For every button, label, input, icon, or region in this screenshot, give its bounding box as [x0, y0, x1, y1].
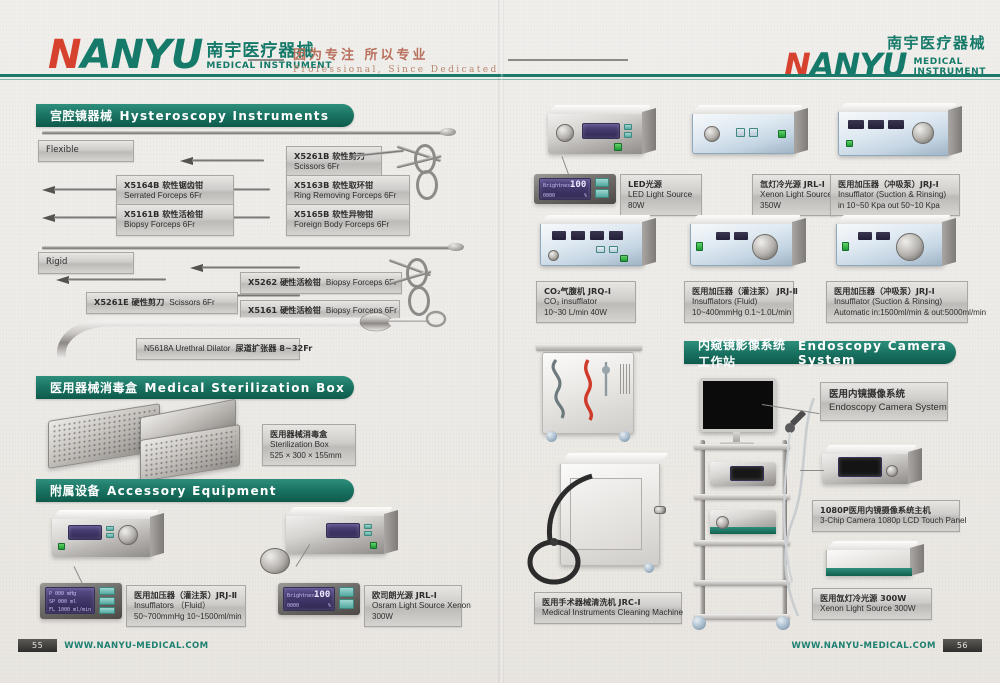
device-insufflator-fluid-btn-1[interactable] — [106, 526, 114, 531]
device-xenon-top — [692, 105, 803, 114]
device-insufflator-fluid-side — [150, 513, 164, 557]
camera-system-cn: 医用内镜摄像系统 — [829, 389, 939, 402]
section-banner-sterilization-cn: 医用器械消毒盒 — [50, 379, 138, 396]
right-top-plate-0: LED光源 LED Light Source 80W — [620, 174, 702, 216]
instrument-jaw-scissors — [180, 157, 193, 165]
camera-host-plate: 1080P医用内镜摄像系统主机 3-Chip Camera 1080p LCD … — [812, 500, 960, 532]
xenon-300w-en: Xenon Light Source 300W — [820, 604, 924, 615]
camera-host-connector[interactable] — [886, 465, 898, 477]
camera-host-cn: 1080P医用内镜摄像系统主机 — [820, 505, 952, 516]
closeup-osram-mode-label: 0000 — [287, 603, 299, 609]
device-insufflator-fluid-power[interactable] — [58, 543, 65, 550]
right-mid-en-0: CO₂ insufflator — [544, 297, 628, 308]
xenon-300w-side — [910, 544, 924, 576]
closeup-osram-up-button[interactable] — [339, 587, 354, 597]
flexible-hysteroscope-tip — [440, 128, 456, 136]
device-xenon-light-source — [692, 112, 796, 154]
device-xenon-power[interactable] — [778, 130, 786, 138]
page-number-right: 56 — [943, 639, 982, 652]
device-insufflator-fluid-right — [690, 222, 794, 266]
xenon-300w-accent-bar — [826, 568, 912, 576]
section-banner-hysteroscopy: 宫腔镜器械 Hysteroscopy Instruments — [36, 104, 354, 127]
device-osram-lcd — [326, 523, 360, 538]
instrument-shaft-biopsy-rigid-1 — [202, 266, 300, 269]
instrument-plate-biopsy-flex: X5161B 软性活检钳 Biopsy Forceps 6Fr — [116, 204, 234, 236]
device-fluid-right-roller-pump[interactable] — [752, 234, 778, 260]
section-banner-endoscopy-en: Endoscopy Camera System — [798, 339, 956, 367]
light-guide-adapter — [260, 548, 290, 574]
footer-url-left[interactable]: WWW.NANYU-MEDICAL.COM — [64, 641, 208, 651]
device-suction-top-roller[interactable] — [912, 122, 934, 144]
device-suction-auto-side — [942, 218, 956, 266]
device-suction-auto-top — [836, 215, 951, 224]
device-insufflator-suction-auto — [836, 222, 944, 266]
instrument-plate-foreign-body: X5165B 软性异物钳 Foreign Body Forceps 6Fr — [286, 204, 410, 236]
accessory-plate-insufflator: 医用加压器（灌注泵）JRJ-Ⅱ Insufflators （Fluid） 50~… — [126, 585, 246, 627]
camera-host-side — [908, 448, 922, 484]
brand-wordmark-rest: ANYU — [80, 32, 202, 78]
closeup-insufflator-line-1: P 000 mHg — [49, 591, 76, 597]
device-osram-btn-1[interactable] — [364, 524, 372, 529]
cleaning-machine-plate: 医用手术器械清洗机 JRC-Ⅰ Medical Instruments Clea… — [534, 592, 682, 624]
device-osram-power[interactable] — [370, 542, 377, 549]
device-co2-btn-1[interactable] — [596, 246, 605, 253]
device-led-side — [642, 108, 656, 154]
right-top-en-2: Insufflator (Suction & Rinsing) — [838, 190, 952, 201]
right-top-spec-1: 350W — [760, 201, 828, 212]
closeup-led-mode-label: 0000 — [543, 193, 555, 199]
closeup-insufflator-panel: P 000 mHg SP 000 ml FL 1000 ml/min — [40, 583, 122, 619]
instrument-plate-biopsy-rigid-1: X5262 硬性活检钳 Biopsy Forceps 6Fr — [240, 272, 402, 294]
section-banner-hysteroscopy-cn: 宫腔镜器械 — [50, 107, 113, 124]
accessory-plate-osram: 欧司朗光源 JRL-Ⅰ Osram Light Source Xenon 300… — [364, 585, 462, 627]
closeup-osram-unit: % — [328, 603, 331, 609]
right-top-spec-0: 80W — [628, 201, 694, 212]
device-suction-auto-power[interactable] — [842, 242, 849, 251]
tagline-text-block: 因为专注 所以专业 Professional, Since Dedicated — [293, 44, 499, 75]
section-banner-accessory-en: Accessory Equipment — [107, 484, 277, 498]
device-led-knob[interactable] — [556, 124, 574, 142]
right-top-cn-1: 氙灯冷光源 JRL-Ⅰ — [760, 179, 828, 190]
footer-url-right[interactable]: WWW.NANYU-MEDICAL.COM — [791, 641, 935, 651]
tagline-cn: 因为专注 所以专业 — [293, 44, 499, 63]
device-suction-top-power[interactable] — [846, 140, 853, 147]
right-mid-plate-1: 医用加压器（灌注泵） JRJ-Ⅱ Insufflators (Fluid) 10… — [684, 281, 794, 323]
brand-initial: N — [48, 32, 80, 78]
section-banner-endoscopy: 内窥镜影像系统工作站 Endoscopy Camera System — [684, 341, 956, 364]
cleaning-upper-caster-left — [546, 431, 557, 442]
right-mid-cn-0: CO₂气腹机 JRQ-Ⅰ — [544, 286, 628, 297]
closeup-insufflator-btn-2[interactable] — [99, 597, 115, 605]
device-xenon-side — [794, 108, 808, 154]
closeup-insufflator-line-3: FL 1000 ml/min — [49, 607, 91, 613]
instrument-en-3: Biopsy Forceps 6Fr — [124, 220, 226, 231]
page-spine — [498, 0, 504, 683]
page-number-left: 55 — [18, 639, 57, 652]
device-suction-top-seg-2 — [868, 120, 884, 129]
right-top-en-0: LED Light Source — [628, 190, 694, 201]
device-co2-gas-port[interactable] — [548, 250, 559, 261]
device-fluid-right-power[interactable] — [696, 242, 703, 251]
device-insufflator-fluid-right-side — [792, 218, 806, 266]
tower-monitor-stand-neck — [733, 432, 740, 442]
cleaning-upper-caster-right — [619, 431, 630, 442]
group-label-rigid: Rigid — [38, 252, 134, 274]
device-fluid-right-seg-2 — [734, 232, 748, 240]
device-xenon-btn-1[interactable] — [736, 128, 745, 137]
instrument-code-4: X5165B 软性异物钳 — [294, 209, 402, 220]
section-banner-sterilization: 医用器械消毒盒 Medical Sterilization Box — [36, 376, 354, 399]
device-suction-auto-roller-pump[interactable] — [896, 233, 924, 261]
device-co2-side — [642, 218, 656, 266]
closeup-osram-down-button[interactable] — [339, 599, 354, 609]
device-led-light-source — [548, 112, 644, 154]
cleaning-machine-cn: 医用手术器械清洗机 JRC-Ⅰ — [542, 597, 674, 608]
device-osram-btn-2[interactable] — [364, 531, 372, 536]
closeup-insufflator-btn-3[interactable] — [99, 607, 115, 614]
closeup-led-brightness-value: 100 — [570, 180, 586, 190]
device-insufflator-suction-top — [838, 110, 950, 156]
instrument-code-5: X5262 硬性活检钳 — [248, 277, 321, 288]
device-insufflator-fluid-knob[interactable] — [118, 525, 138, 545]
closeup-insufflator-line-2: SP 000 ml — [49, 599, 76, 605]
device-suction-auto-seg-2 — [876, 232, 890, 240]
device-co2-power[interactable] — [620, 255, 628, 262]
device-osram-light-source — [286, 514, 386, 554]
xenon-300w-cn: 医用氙灯冷光源 300W — [820, 593, 924, 604]
instrument-en-2: Ring Removing Forceps 6Fr — [294, 191, 402, 202]
cleaning-lower-hose — [524, 470, 634, 590]
device-led-btn-2[interactable] — [624, 132, 632, 138]
right-top-spec-2: in 10~50 Kpa out 50~10 Kpa — [838, 201, 952, 212]
closeup-led-unit: % — [584, 193, 587, 199]
device-co2-seg-3 — [590, 231, 604, 240]
right-top-en-1: Xenon Light Source — [760, 190, 828, 201]
camera-system-en: Endoscopy Camera System — [829, 402, 939, 415]
instrument-code-2: X5163B 软性取环钳 — [294, 180, 402, 191]
right-mid-spec-1: 10~400mmHg 0.1~1.0L/min — [692, 308, 786, 319]
tagline-rule-right — [508, 59, 628, 61]
rigid-hysteroscope-rod — [42, 246, 454, 250]
closeup-osram-brightness-value: 100 — [314, 590, 330, 600]
brand-wordmark-left: NANYU — [48, 37, 202, 73]
catalog-page: NANYU 南宇医疗器械 MEDICAL INSTRUMENT 因为专注 所以专… — [0, 0, 1000, 683]
closeup-led-panel: Brightness 100 0000 % — [534, 174, 616, 204]
device-insufflator-fluid-right-top — [690, 215, 801, 224]
device-osram-side — [384, 510, 398, 554]
instrument-jaw-biopsy-rigid-1 — [190, 264, 203, 272]
device-co2-btn-2[interactable] — [609, 246, 618, 253]
cleaning-upper-hoses — [544, 356, 636, 428]
device-xenon-300w — [826, 548, 912, 576]
device-suction-top-seg-1 — [848, 120, 864, 129]
device-led-lcd — [582, 123, 620, 139]
instrument-en-4: Foreign Body Forceps 6Fr — [294, 220, 402, 231]
tower-caster-left — [692, 616, 706, 630]
device-insufflator-suction-top-side — [948, 106, 962, 156]
closeup-osram-brightness-label: Brightness — [287, 593, 317, 599]
group-label-flexible: Flexible — [38, 140, 134, 162]
flexible-hysteroscope-rod — [42, 131, 446, 135]
cleaning-lower-caster — [644, 563, 654, 573]
tagline-rule-left — [248, 59, 284, 61]
instrument-plate-ring-removing: X5163B 软性取环钳 Ring Removing Forceps 6Fr — [286, 175, 410, 207]
closeup-insufflator-btn-1[interactable] — [99, 587, 115, 595]
device-suction-auto-body — [836, 222, 944, 266]
right-mid-en-2: Insufflator (Suction & Rinsing) — [834, 297, 960, 308]
right-top-cn-2: 医用加压器（冲吸泵）JRJ-Ⅰ — [838, 179, 952, 190]
device-co2-seg-1 — [552, 231, 566, 240]
device-camera-host-1080p — [822, 452, 910, 484]
device-suction-auto-seg-1 — [858, 232, 872, 240]
footer-right: WWW.NANYU-MEDICAL.COM 56 — [791, 639, 982, 652]
right-mid-en-1: Insufflators (Fluid) — [692, 297, 786, 308]
device-insufflator-fluid-btn-2[interactable] — [106, 533, 114, 538]
instrument-en-5: Biopsy Forceps 6Fr — [326, 278, 397, 289]
xenon-300w-top — [826, 541, 919, 550]
accessory-spec-1: 300W — [372, 612, 454, 623]
urethral-dilator-en: N5618A Urethral Dilator — [144, 344, 230, 355]
tower-light-source-unit — [710, 510, 776, 534]
header-tagline: 因为专注 所以专业 Professional, Since Dedicated — [248, 44, 628, 75]
camera-host-touch-panel[interactable] — [838, 457, 882, 477]
rigid-hysteroscope-tip — [448, 243, 464, 251]
right-mid-spec-2: Automatic in:1500ml/min & out:5000ml/min — [834, 308, 960, 319]
device-insufflator-fluid-right-body — [690, 222, 794, 266]
device-xenon-port[interactable] — [704, 126, 720, 142]
section-banner-endoscopy-cn: 内窥镜影像系统工作站 — [698, 336, 791, 370]
instrument-jaw-serrated — [42, 186, 55, 194]
instrument-code-1: X5164B 软性锯齿钳 — [124, 180, 226, 191]
instrument-jaw-biopsy-flex — [42, 214, 55, 222]
instrument-code-3: X5161B 软性活检钳 — [124, 209, 226, 220]
device-xenon-btn-2[interactable] — [749, 128, 758, 137]
device-led-btn-1[interactable] — [624, 124, 632, 130]
instrument-shaft-scissors — [192, 159, 264, 162]
device-insufflator-fluid-lcd — [68, 525, 102, 540]
xenon-300w-plate: 医用氙灯冷光源 300W Xenon Light Source 300W — [812, 588, 932, 620]
right-mid-plate-2: 医用加压器（冲吸泵）JRJ-Ⅰ Insufflator (Suction & R… — [826, 281, 968, 323]
camera-system-plate: 医用内镜摄像系统 Endoscopy Camera System — [820, 382, 948, 421]
group-label-rigid-text: Rigid — [46, 257, 126, 268]
camera-host-en: 3-Chip Camera 1080p LCD Touch Panel — [820, 516, 952, 527]
rigid-ring-handle-upper — [406, 258, 428, 288]
instrument-shaft-scissors-rigid — [68, 278, 166, 281]
accessory-cn-0: 医用加压器（灌注泵）JRJ-Ⅱ — [134, 590, 238, 601]
right-top-plate-1: 氙灯冷光源 JRL-Ⅰ Xenon Light Source 350W — [752, 174, 836, 216]
device-fluid-right-seg-1 — [716, 232, 730, 240]
sterilization-box-cn: 医用器械消毒盒 — [270, 429, 348, 440]
device-co2-seg-4 — [609, 231, 623, 240]
sterilization-box-plate: 医用器械消毒盒 Sterilization Box 525 × 300 × 15… — [262, 424, 356, 466]
forceps-ring-handle-lower — [416, 170, 438, 200]
device-insufflator-fluid — [52, 517, 152, 557]
instrument-plate-scissors-flex: X5261B 软性剪刀 Scissors 6Fr — [286, 146, 382, 178]
device-insufflator-suction-top-top — [838, 103, 957, 112]
device-co2-insufflator — [540, 222, 644, 266]
cleaning-lower-handle[interactable] — [654, 506, 666, 514]
cleaning-machine-en: Medical Instruments Cleaning Machine — [542, 608, 674, 619]
right-mid-cn-1: 医用加压器（灌注泵） JRJ-Ⅱ — [692, 286, 786, 297]
device-co2-seg-2 — [571, 231, 585, 240]
tower-light-source-port[interactable] — [716, 516, 729, 529]
closeup-osram-lcd: Brightness 100 0000 % — [283, 587, 335, 611]
closeup-led-down-button[interactable] — [595, 189, 609, 198]
closeup-insufflator-lcd: P 000 mHg SP 000 ml FL 1000 ml/min — [45, 587, 95, 614]
cleaning-lower-top — [560, 453, 669, 464]
accessory-en-1: Osram Light Source Xenon — [372, 601, 454, 612]
footer-left: 55 WWW.NANYU-MEDICAL.COM — [18, 639, 209, 652]
right-top-plate-2: 医用加压器（冲吸泵）JRJ-Ⅰ Insufflator (Suction & R… — [830, 174, 960, 216]
tower-camera-unit — [710, 462, 776, 486]
right-mid-spec-0: 10~30 L/min 40W — [544, 308, 628, 319]
device-suction-top-seg-3 — [888, 120, 904, 129]
right-top-cn-0: LED光源 — [628, 179, 694, 190]
device-led-top — [548, 105, 651, 114]
device-osram-top — [286, 507, 393, 516]
device-led-power[interactable] — [614, 143, 622, 151]
instrument-en-0: Scissors 6Fr — [294, 162, 374, 173]
sterilization-box-size: 525 × 300 × 155mm — [270, 451, 348, 462]
urethral-dilator-cn: 尿道扩张器 8~32Fr — [235, 343, 312, 354]
closeup-led-brightness-label: Brightness — [543, 183, 573, 189]
cleaning-upper-worktop — [536, 344, 642, 351]
section-banner-sterilization-en: Medical Sterilization Box — [145, 381, 346, 395]
closeup-osram-panel: Brightness 100 0000 % — [278, 583, 360, 615]
closeup-led-up-button[interactable] — [595, 178, 609, 187]
group-label-flexible-text: Flexible — [46, 145, 126, 156]
accessory-spec-0: 50~700mmHg 10~1500ml/min — [134, 612, 238, 623]
instrument-plate-serrated: X5164B 软性锯齿钳 Serrated Forceps 6Fr — [116, 175, 234, 207]
tower-camera-unit-screen — [730, 466, 764, 481]
urethral-dilator-plate: N5618A Urethral Dilator 尿道扩张器 8~32Fr — [136, 338, 300, 360]
right-mid-cn-2: 医用加压器（冲吸泵）JRJ-Ⅰ — [834, 286, 960, 297]
accessory-en-0: Insufflators （Fluid） — [134, 601, 238, 612]
tower-post-left — [700, 440, 705, 620]
accessory-cn-1: 欧司朗光源 JRL-Ⅰ — [372, 590, 454, 601]
camera-host-top — [822, 445, 917, 454]
section-banner-hysteroscopy-en: Hysteroscopy Instruments — [120, 109, 330, 123]
instrument-en-1: Serrated Forceps 6Fr — [124, 191, 226, 202]
leader-line-camera-host — [800, 470, 824, 471]
section-banner-accessory: 附属设备 Accessory Equipment — [36, 479, 354, 502]
closeup-led-lcd: Brightness 100 0000 % — [539, 178, 591, 200]
brand-en-right-line1: MEDICAL — [913, 57, 986, 67]
device-insufflator-fluid-top — [52, 510, 159, 519]
right-mid-plate-0: CO₂气腹机 JRQ-Ⅰ CO₂ insufflator 10~30 L/min… — [536, 281, 636, 323]
device-co2-top — [540, 215, 651, 224]
section-banner-accessory-cn: 附属设备 — [50, 482, 100, 499]
instrument-jaw-scissors-rigid — [56, 276, 69, 284]
sterilization-box-en: Sterilization Box — [270, 440, 348, 451]
